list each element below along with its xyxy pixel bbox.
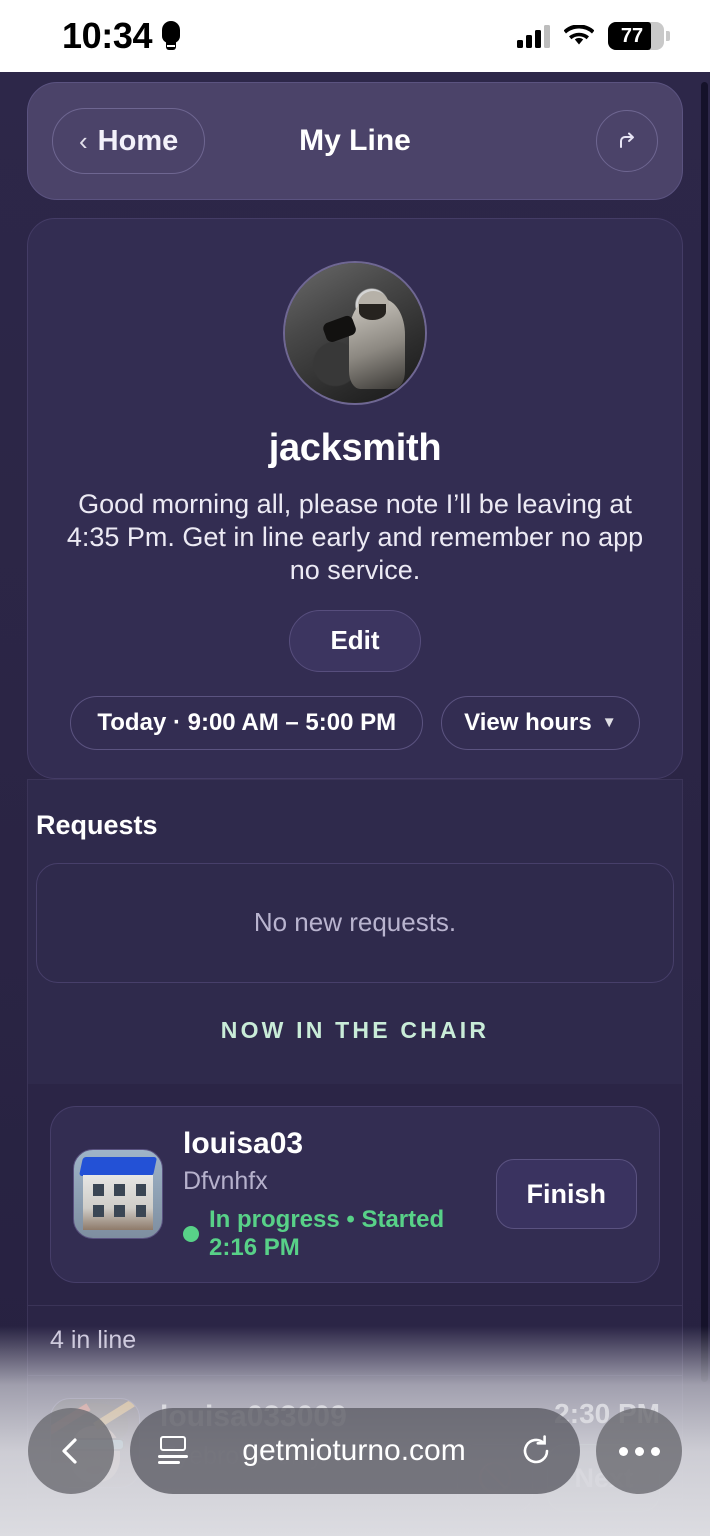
browser-back-button[interactable] (28, 1408, 114, 1494)
browser-more-button[interactable] (596, 1408, 682, 1494)
browser-address-bar[interactable]: getmioturno.com (130, 1408, 580, 1494)
requests-title: Requests (28, 802, 682, 841)
in-chair-info: louisa03 Dfvnhfx In progress • Started 2… (183, 1127, 476, 1263)
profile-bio: Good morning all, please note I’ll be le… (55, 488, 655, 588)
wifi-icon (564, 24, 594, 48)
finish-button[interactable]: Finish (496, 1159, 638, 1229)
ios-status-bar: 10:34 77 (0, 0, 710, 72)
chevron-left-icon: ‹ (79, 126, 88, 157)
now-in-chair-heading: NOW IN THE CHAIR (28, 983, 682, 1066)
edit-profile-button[interactable]: Edit (289, 610, 420, 672)
profile-username: jacksmith (269, 427, 442, 470)
in-chair-card[interactable]: louisa03 Dfvnhfx In progress • Started 2… (50, 1106, 660, 1284)
requests-section: Requests No new requests. NOW IN THE CHA… (27, 780, 683, 1084)
profile-card: jacksmith Good morning all, please note … (27, 218, 683, 779)
chevron-down-icon: ▼ (602, 714, 617, 731)
hours-row: Today · 9:00 AM – 5:00 PM View hours ▼ (54, 696, 656, 750)
status-bar-right: 77 (517, 22, 664, 50)
barber-photo-avatar[interactable] (283, 261, 427, 405)
in-chair-service: Dfvnhfx (183, 1167, 476, 1196)
back-button-label: Home (98, 125, 179, 158)
view-hours-dropdown[interactable]: View hours ▼ (441, 696, 639, 750)
queue-count-label: 4 in line (27, 1305, 683, 1376)
cellular-bars-icon (517, 24, 550, 48)
status-bar-left: 10:34 (62, 18, 181, 54)
now-in-chair-section: louisa03 Dfvnhfx In progress • Started 2… (27, 1084, 683, 1306)
in-chair-status: In progress • Started 2:16 PM (183, 1206, 476, 1262)
in-chair-status-text: In progress • Started 2:16 PM (209, 1206, 476, 1262)
browser-url-text: getmioturno.com (206, 1434, 502, 1468)
house-photo-avatar[interactable] (73, 1149, 163, 1239)
web-page-content: ‹ Home My Line jacksmith Good morning (0, 72, 710, 1536)
battery-percent: 77 (608, 22, 664, 50)
clock-time: 10:34 (62, 18, 152, 54)
phone-screen: 10:34 77 (0, 0, 710, 1536)
location-bulb-icon (161, 21, 181, 51)
today-hours-pill: Today · 9:00 AM – 5:00 PM (70, 696, 423, 750)
battery-indicator: 77 (608, 22, 664, 50)
app-header: ‹ Home My Line (27, 82, 683, 200)
back-home-button[interactable]: ‹ Home (52, 108, 205, 174)
requests-empty-state: No new requests. (36, 863, 674, 983)
reader-view-icon[interactable] (156, 1436, 190, 1466)
reload-icon[interactable] (518, 1433, 554, 1469)
in-chair-client-name: louisa03 (183, 1127, 476, 1162)
page-scrollbar[interactable] (701, 82, 708, 1382)
status-dot-icon (183, 1226, 199, 1242)
view-hours-label: View hours (464, 709, 592, 737)
share-arrow-icon[interactable] (596, 110, 658, 172)
safari-bottom-bar: getmioturno.com (0, 1388, 710, 1536)
